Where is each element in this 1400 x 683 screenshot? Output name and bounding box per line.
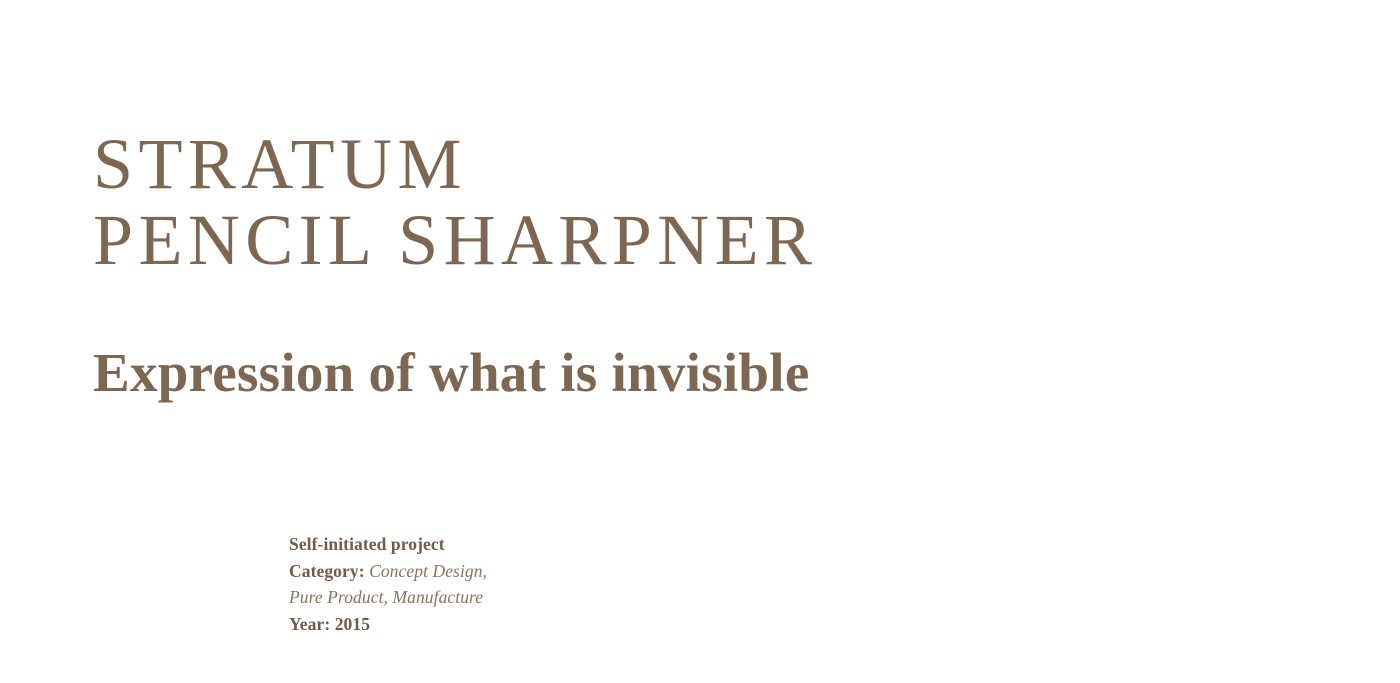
meta-category-line: Category: Concept Design, <box>289 558 487 585</box>
meta-project-type-line: Self-initiated project <box>289 531 487 558</box>
presentation-slide: STRATUM PENCIL SHARPNER Expression of wh… <box>0 0 1400 683</box>
meta-project-type: Self-initiated project <box>289 534 445 554</box>
title-line-1: STRATUM <box>93 126 817 202</box>
meta-category-continuation-line: Pure Product, Manufacture <box>289 584 487 611</box>
meta-year-label: Year: <box>289 614 330 634</box>
project-title: STRATUM PENCIL SHARPNER <box>93 126 817 278</box>
project-subtitle: Expression of what is invisible <box>93 343 810 403</box>
meta-year-value: 2015 <box>330 614 370 634</box>
title-line-2: PENCIL SHARPNER <box>93 202 817 278</box>
meta-category-label: Category: <box>289 561 365 581</box>
meta-year-line: Year: 2015 <box>289 611 487 638</box>
meta-category-value-part-1: Concept Design, <box>365 561 487 581</box>
project-metadata: Self-initiated project Category: Concept… <box>289 531 487 637</box>
meta-category-value-part-2: Pure Product, Manufacture <box>289 587 483 607</box>
